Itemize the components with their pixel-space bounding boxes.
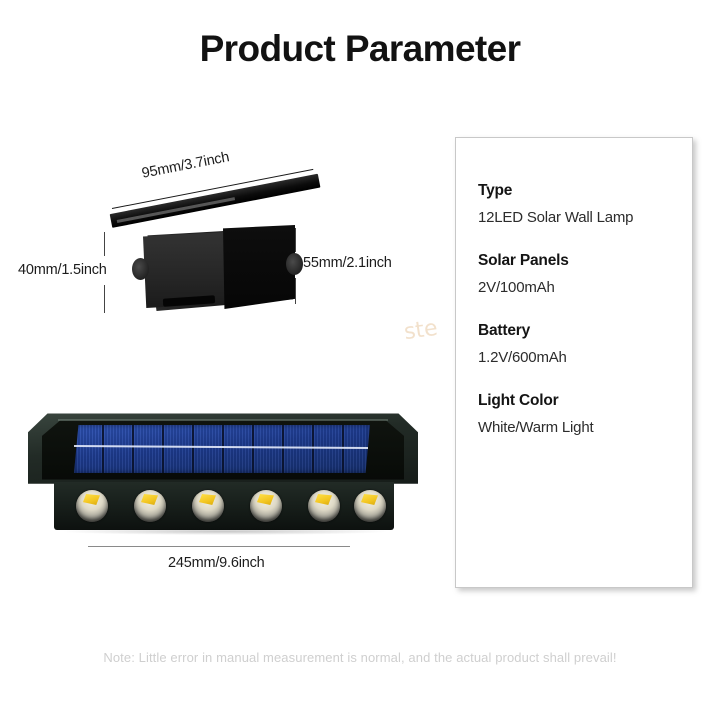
led-lens (308, 490, 340, 522)
solar-panel-cell-grid (74, 425, 370, 473)
product-angled-view (105, 196, 335, 331)
dimension-rule-height-lower (104, 285, 105, 313)
infographic-canvas: Product Parameter ste 95mm/3.7inch 40mm/… (0, 0, 720, 720)
product-drop-shadow (64, 528, 386, 535)
lamp-bezel-highlight (58, 419, 388, 421)
led-lens (250, 490, 282, 522)
dimension-label-side: 55mm/2.1inch (303, 255, 392, 271)
dimension-rule-width (88, 546, 350, 547)
spec-row-battery: Battery 1.2V/600mAh (478, 322, 692, 366)
led-lens (192, 490, 224, 522)
spec-value-solar-panels: 2V/100mAh (478, 279, 692, 296)
spec-row-solar-panels: Solar Panels 2V/100mAh (478, 252, 692, 296)
dimension-rule-side-upper (295, 228, 296, 252)
product-front-view (28, 412, 418, 537)
led-lens (76, 490, 108, 522)
watermark: ste (402, 316, 439, 345)
spec-value-type: 12LED Solar Wall Lamp (478, 209, 692, 226)
spec-value-battery: 1.2V/600mAh (478, 349, 692, 366)
lamp-side-face (223, 225, 295, 309)
specification-panel: Type 12LED Solar Wall Lamp Solar Panels … (455, 137, 693, 588)
dimension-rule-height-upper (104, 232, 105, 256)
spec-label-light-color: Light Color (478, 392, 692, 410)
page-title: Product Parameter (0, 28, 720, 70)
spec-row-type: Type 12LED Solar Wall Lamp (478, 182, 692, 226)
footer-note: Note: Little error in manual measurement… (0, 650, 720, 665)
spec-label-type: Type (478, 182, 692, 200)
dimension-label-width: 245mm/9.6inch (168, 555, 265, 571)
led-lens (354, 490, 386, 522)
spec-label-battery: Battery (478, 322, 692, 340)
spec-label-solar-panels: Solar Panels (478, 252, 692, 270)
dimension-label-depth: 95mm/3.7inch (140, 149, 230, 182)
led-housing-bar (54, 482, 394, 530)
dimension-label-height: 40mm/1.5inch (18, 262, 107, 278)
lamp-side-lens-right (286, 253, 303, 275)
dimension-rule-side-lower (295, 278, 296, 304)
lamp-side-lens-left (132, 258, 149, 280)
spec-row-light-color: Light Color White/Warm Light (478, 392, 692, 436)
spec-value-light-color: White/Warm Light (478, 419, 692, 436)
led-lens (134, 490, 166, 522)
